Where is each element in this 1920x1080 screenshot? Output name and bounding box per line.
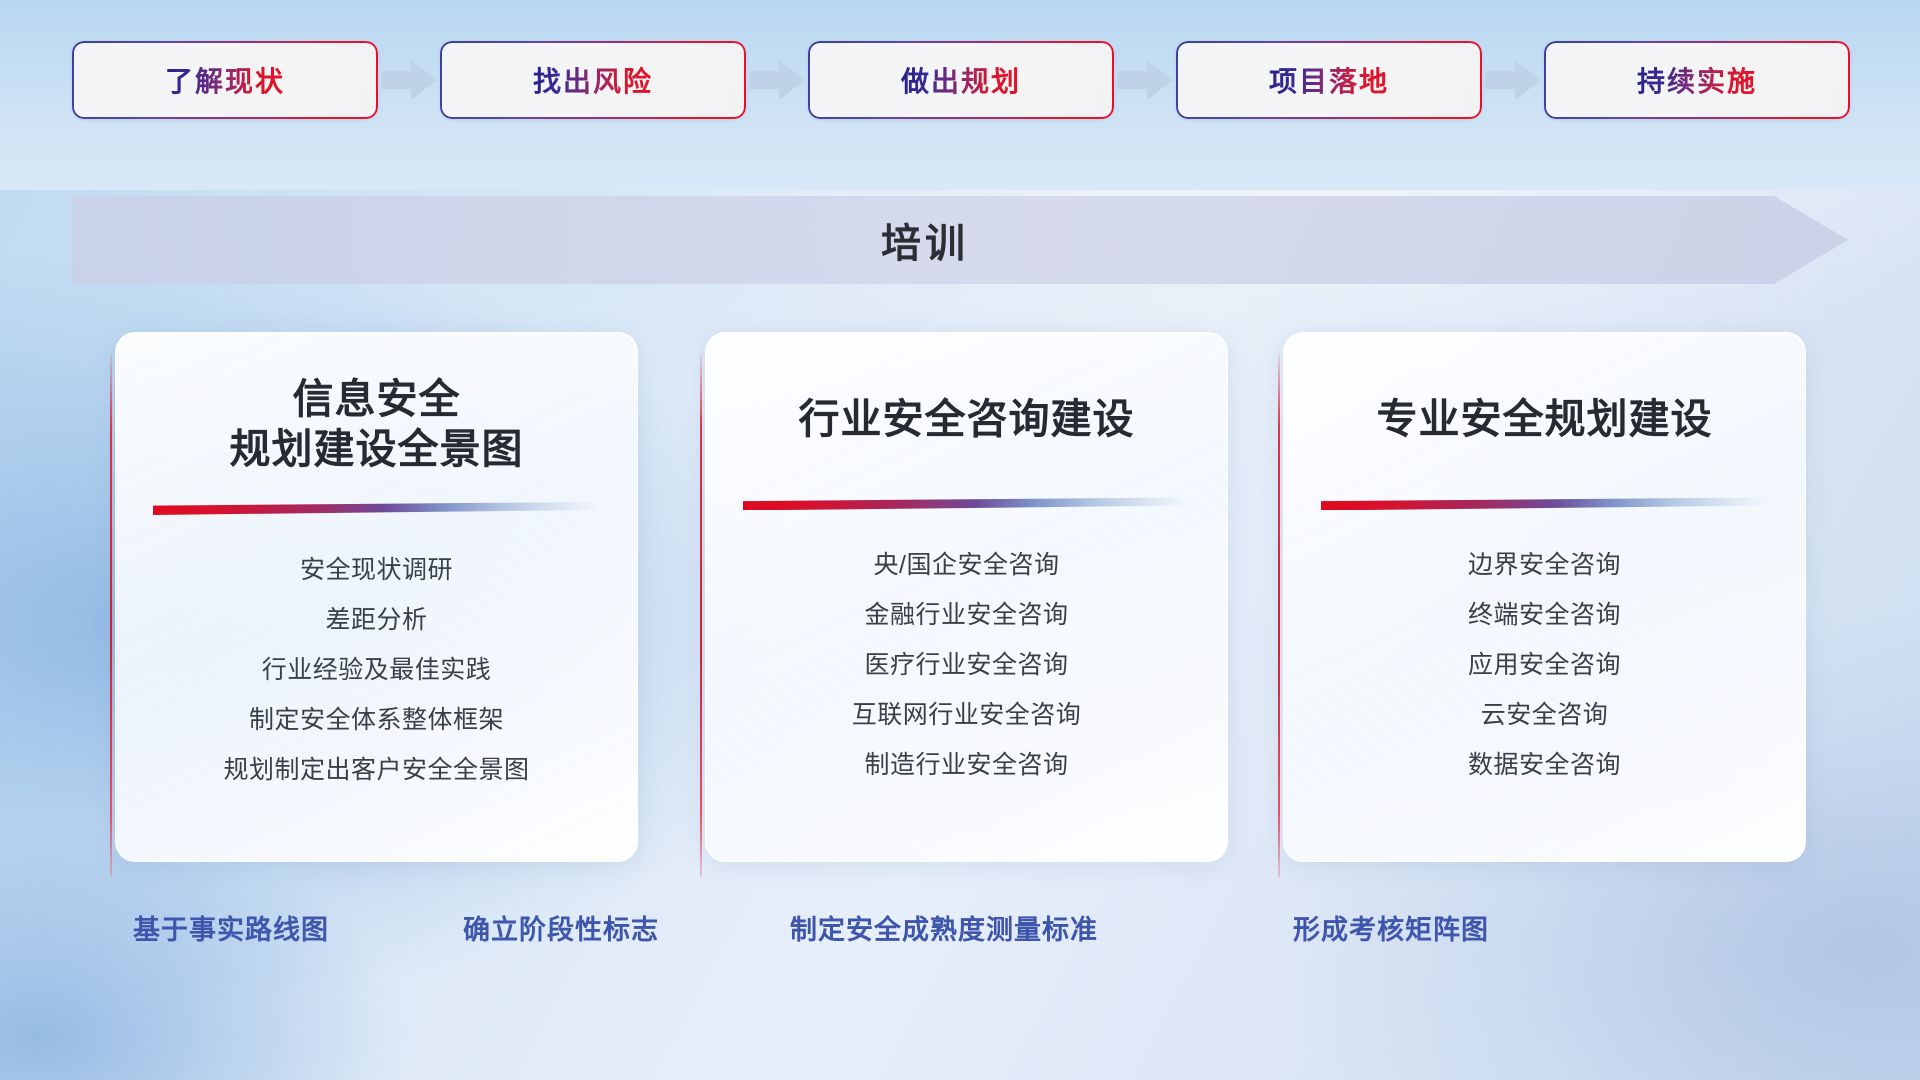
card-2-panel[interactable]: 行业安全咨询建设 央/国企安全咨询 金融行业安全咨询 医疗行业安全咨询 互联网行…: [705, 332, 1228, 862]
list-item: 医疗行业安全咨询: [864, 640, 1068, 690]
step-label-3: 做出规划: [901, 60, 1021, 100]
list-item: 规划制定出客户安全全景图: [223, 745, 529, 795]
step-label-5: 持续实施: [1637, 60, 1757, 100]
list-item: 安全现状调研: [300, 545, 453, 595]
card-2-divider: [743, 497, 1191, 510]
card-1-divider: [153, 502, 601, 515]
step-label-4: 项目落地: [1269, 60, 1389, 100]
list-item: 终端安全咨询: [1468, 590, 1621, 640]
card-red-accent-line: [1278, 354, 1280, 877]
card-1[interactable]: 信息安全 规划建设全景图 安全现状调研 差距分析 行业经验及最佳实践 制定安全体…: [110, 332, 638, 877]
arrow-right-icon: [378, 41, 440, 119]
banner-label: 培训: [72, 196, 1848, 284]
card-1-title-line2: 规划建设全景图: [230, 423, 524, 475]
card-3-divider: [1321, 497, 1769, 510]
bottom-label-2: 确立阶段性标志: [463, 908, 659, 947]
list-item: 差距分析: [325, 595, 427, 645]
card-3-item-list: 边界安全咨询 终端安全咨询 应用安全咨询 云安全咨询 数据安全咨询: [1312, 540, 1777, 790]
list-item: 行业经验及最佳实践: [262, 645, 492, 695]
card-red-accent-line: [110, 354, 112, 877]
step-label-2: 找出风险: [533, 60, 653, 100]
card-2-item-list: 央/国企安全咨询 金融行业安全咨询 医疗行业安全咨询 互联网行业安全咨询 制造行…: [734, 540, 1199, 790]
card-2-title-line1: 行业安全咨询建设: [799, 393, 1135, 445]
training-banner: 培训: [72, 196, 1848, 284]
step-box-2[interactable]: 找出风险: [440, 41, 746, 119]
card-1-panel[interactable]: 信息安全 规划建设全景图 安全现状调研 差距分析 行业经验及最佳实践 制定安全体…: [115, 332, 638, 862]
arrow-right-icon: [746, 41, 808, 119]
card-row: 信息安全 规划建设全景图 安全现状调研 差距分析 行业经验及最佳实践 制定安全体…: [0, 332, 1920, 887]
step-box-1[interactable]: 了解现状: [72, 41, 378, 119]
card-3[interactable]: 专业安全规划建设 边界安全咨询 终端安全咨询 应用安全咨询 云安全咨询 数据安全…: [1278, 332, 1806, 877]
card-3-panel[interactable]: 专业安全规划建设 边界安全咨询 终端安全咨询 应用安全咨询 云安全咨询 数据安全…: [1283, 332, 1806, 862]
list-item: 云安全咨询: [1481, 690, 1609, 740]
list-item: 制定安全体系整体框架: [249, 695, 504, 745]
list-item: 边界安全咨询: [1468, 540, 1621, 590]
list-item: 应用安全咨询: [1468, 640, 1621, 690]
bottom-label-4: 形成考核矩阵图: [1293, 908, 1489, 947]
bottom-label-1: 基于事实路线图: [133, 908, 329, 947]
card-2[interactable]: 行业安全咨询建设 央/国企安全咨询 金融行业安全咨询 医疗行业安全咨询 互联网行…: [700, 332, 1228, 877]
list-item: 互联网行业安全咨询: [852, 690, 1082, 740]
bottom-label-3: 制定安全成熟度测量标准: [790, 908, 1098, 947]
list-item: 央/国企安全咨询: [874, 540, 1060, 590]
card-1-title-line1: 信息安全: [293, 373, 461, 425]
step-box-3[interactable]: 做出规划: [808, 41, 1114, 119]
card-1-item-list: 安全现状调研 差距分析 行业经验及最佳实践 制定安全体系整体框架 规划制定出客户…: [144, 545, 609, 795]
card-red-accent-line: [700, 354, 702, 877]
list-item: 数据安全咨询: [1468, 740, 1621, 790]
step-label-1: 了解现状: [165, 60, 285, 100]
list-item: 金融行业安全咨询: [864, 590, 1068, 640]
card-3-title-line1: 专业安全规划建设: [1377, 393, 1713, 445]
step-box-5[interactable]: 持续实施: [1544, 41, 1850, 119]
process-step-row: 了解现状 找出风险 做出规划 项目落地 持续实施: [0, 0, 1920, 160]
bottom-label-row: 基于事实路线图 确立阶段性标志 制定安全成熟度测量标准 形成考核矩阵图: [0, 908, 1920, 968]
arrow-right-icon: [1114, 41, 1176, 119]
arrow-right-icon: [1482, 41, 1544, 119]
step-box-4[interactable]: 项目落地: [1176, 41, 1482, 119]
list-item: 制造行业安全咨询: [864, 740, 1068, 790]
